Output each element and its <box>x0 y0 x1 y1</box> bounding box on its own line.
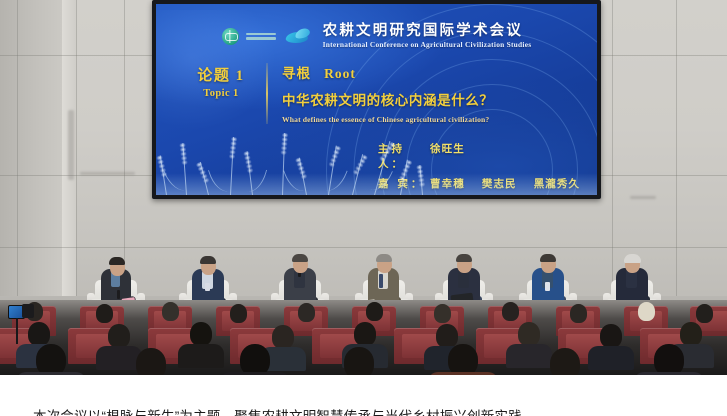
institute-name-mark <box>246 33 276 40</box>
lanyard-badge <box>545 282 550 291</box>
tripod-camera <box>8 304 34 320</box>
lanyard-badge <box>205 283 210 291</box>
topic-number: 论题 1 Topic 1 <box>178 61 264 99</box>
topic-heading-cn: 寻根 <box>282 66 311 81</box>
screenshot-frame: 农耕文明研究国际学术会议 International Conference on… <box>0 0 727 416</box>
topic-number-cn: 论题 1 <box>178 64 264 85</box>
screen-surface: 农耕文明研究国际学术会议 International Conference on… <box>156 4 597 195</box>
wheat-stalks-graphic <box>156 121 597 195</box>
conference-photo: 农耕文明研究国际学术会议 International Conference on… <box>0 0 727 375</box>
topic-divider <box>266 63 268 124</box>
topic-heading: 寻根 Root <box>282 62 583 82</box>
audience-area <box>0 300 727 375</box>
caption-text: 本次会议以“根脉与新生”为主题，聚焦农耕文明智慧传承与当代乡村振兴创新实践 <box>0 410 522 416</box>
topic-heading-en: Root <box>324 66 356 81</box>
microphone-icon <box>117 290 120 299</box>
institute-seal-icon <box>222 28 239 45</box>
topic-number-en: Topic 1 <box>178 88 264 99</box>
conference-title-en: International Conference on Agricultural… <box>323 41 532 48</box>
topic-question-cn: 中华农耕文明的核心内涵是什么？ <box>282 89 583 109</box>
conference-header: 农耕文明研究国际学术会议 International Conference on… <box>156 24 597 48</box>
swoosh-mark-icon <box>286 29 312 44</box>
conference-title-cn: 农耕文明研究国际学术会议 <box>323 24 532 39</box>
led-presentation-screen: 农耕文明研究国际学术会议 International Conference on… <box>152 0 601 199</box>
topic-block: 论题 1 Topic 1 寻根 Root 中华农耕文明的核心内涵是什么？ Wha… <box>178 61 583 124</box>
caption-bar: 本次会议以“根脉与新生”为主题，聚焦农耕文明智慧传承与当代乡村振兴创新实践 <box>0 375 727 416</box>
